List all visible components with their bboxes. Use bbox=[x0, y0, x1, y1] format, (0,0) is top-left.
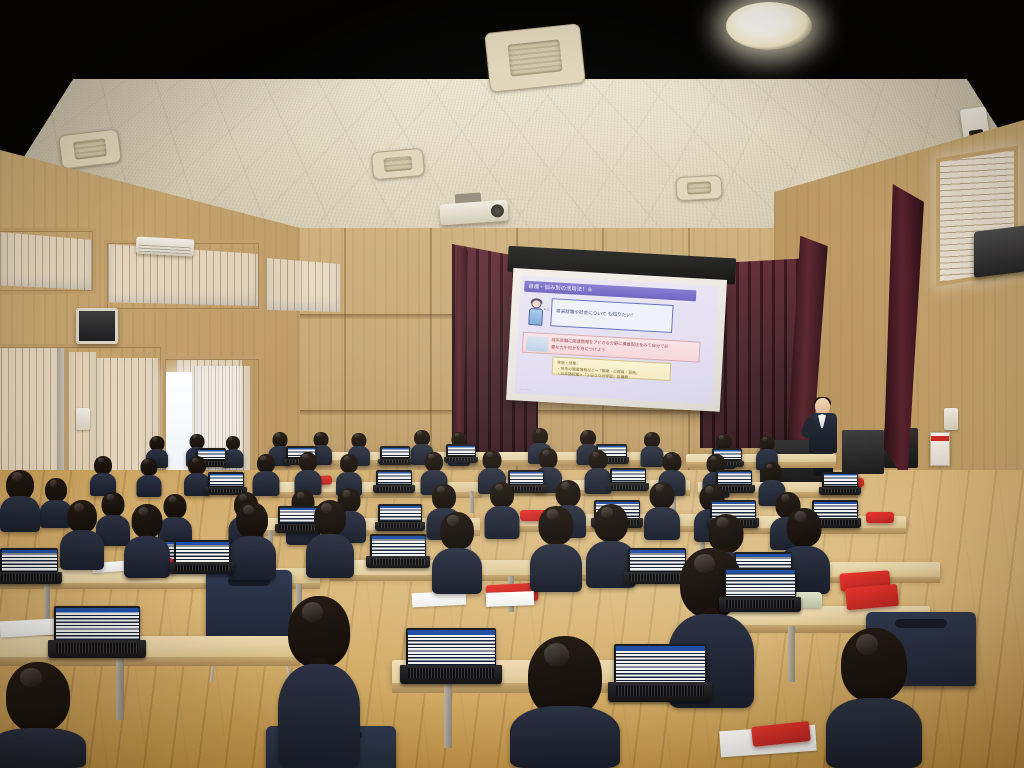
laptop-lid bbox=[370, 534, 426, 557]
laptop-display bbox=[408, 630, 495, 665]
laptop-base bbox=[608, 682, 713, 702]
laptop-display bbox=[2, 550, 57, 571]
slide-footer-text: ····· ····· bbox=[519, 388, 531, 393]
vent-grille bbox=[383, 156, 412, 173]
student-head bbox=[299, 452, 317, 472]
laptop-r2-6 bbox=[822, 472, 858, 495]
laptop-base bbox=[0, 572, 62, 584]
vent-grille bbox=[686, 181, 711, 195]
student-head bbox=[6, 662, 70, 732]
laptop-base bbox=[366, 556, 430, 568]
ac-vent-center-icon bbox=[484, 23, 586, 93]
student-head bbox=[314, 500, 346, 536]
laptop-base bbox=[170, 562, 234, 574]
student-torso bbox=[530, 544, 582, 592]
student-head bbox=[539, 448, 558, 469]
student-foreground-left bbox=[278, 596, 360, 768]
laptop-display bbox=[612, 470, 645, 483]
desk-leg bbox=[116, 658, 124, 720]
laptop-base bbox=[607, 483, 648, 491]
student-r3-8 bbox=[484, 482, 519, 539]
laptop-lid bbox=[610, 468, 646, 484]
student-head bbox=[841, 628, 907, 702]
ac-vent-right-icon bbox=[371, 148, 425, 180]
slide-yellow-text: 実施・授業： ・将来の職業情報など→「職業・公務員・資格」 ・日本語授業→「１日… bbox=[556, 360, 667, 383]
student-r4-6 bbox=[432, 512, 482, 594]
laptop-r4-3 bbox=[370, 534, 426, 568]
ac-vent-left-icon bbox=[58, 128, 122, 169]
red-bag-floor bbox=[845, 584, 899, 610]
desk-leg bbox=[470, 491, 474, 513]
laptop-base bbox=[375, 522, 425, 531]
slide-pink-text: 将来就職に関連情報をアどのな分野に講義配信をみて自分で必要な力や何かを身につけよ… bbox=[551, 337, 671, 357]
slide-speech-bubble: 将来就職や社会について も知りたい！ bbox=[550, 298, 673, 333]
laptop-base bbox=[373, 485, 414, 493]
laptop-lid bbox=[380, 446, 410, 459]
student-foreground-center bbox=[510, 636, 620, 768]
student-head bbox=[762, 462, 781, 482]
slide-avatar-icon bbox=[525, 298, 547, 329]
student-head bbox=[236, 502, 268, 538]
laptop-base bbox=[819, 487, 860, 495]
laptop-display bbox=[176, 542, 229, 562]
fire-equipment-cabinet-icon bbox=[930, 432, 950, 466]
downlight-top-icon bbox=[726, 2, 812, 50]
slide-instruction-box: 将来就職に関連情報をアどのな分野に講義配信をみて自分で必要な力や何かを身につけよ… bbox=[522, 332, 701, 363]
student-head bbox=[432, 484, 456, 510]
student-r2-1 bbox=[90, 456, 116, 496]
student-r4-3 bbox=[124, 504, 170, 578]
wall-speaker-icon bbox=[974, 224, 1024, 278]
laptop-display bbox=[380, 506, 421, 521]
slide-bubble-text: 将来就職や社会について も知りたい！ bbox=[556, 309, 636, 319]
student-head bbox=[650, 482, 675, 509]
student-foreground-farright bbox=[826, 628, 922, 768]
student-r4-4 bbox=[228, 502, 276, 580]
ac-louvers bbox=[139, 245, 190, 255]
laptop-foreground-left bbox=[54, 606, 140, 658]
laptop-display bbox=[448, 446, 475, 456]
student-r4-5 bbox=[306, 500, 354, 578]
student-head bbox=[490, 482, 514, 508]
student-head bbox=[425, 452, 443, 472]
student-left-edge bbox=[0, 662, 86, 768]
student-r2-2 bbox=[136, 458, 161, 497]
student-head bbox=[226, 436, 240, 450]
student-torso bbox=[306, 534, 354, 578]
projector-lens-icon bbox=[491, 204, 505, 218]
right-wall-switch-icon[interactable] bbox=[944, 408, 958, 430]
laptop-r4-1 bbox=[0, 548, 58, 584]
student-head bbox=[588, 450, 607, 470]
student-head bbox=[132, 504, 163, 538]
student-torso bbox=[484, 506, 519, 539]
desk-leg bbox=[44, 584, 50, 622]
student-torso bbox=[826, 698, 922, 768]
student-head bbox=[45, 478, 67, 502]
laptop-lid bbox=[54, 606, 140, 641]
slide-illustration-icon bbox=[526, 336, 549, 352]
laptop-lid bbox=[614, 644, 706, 683]
laptop-display bbox=[726, 570, 795, 597]
window-frame-left-lower-2 bbox=[162, 356, 262, 488]
laptop-r2-4 bbox=[610, 468, 646, 491]
laptop-lid bbox=[0, 548, 58, 572]
student-torso bbox=[124, 536, 170, 578]
projection-screen-assembly: 目標・悩み別の活用法！④ ∘○ 将来就職や社会について も知りたい！ 将来就職に… bbox=[500, 246, 737, 418]
laptop-lid bbox=[174, 540, 230, 563]
student-r2-5 bbox=[294, 452, 321, 495]
worksheet-r5-a bbox=[0, 619, 56, 638]
laptop-base bbox=[48, 640, 146, 658]
laptop-base bbox=[719, 597, 801, 612]
wall-light-switch-icon[interactable] bbox=[76, 408, 90, 430]
student-r4-2 bbox=[60, 500, 104, 570]
laptop-display bbox=[382, 448, 409, 458]
laptop-base bbox=[444, 457, 478, 463]
avatar-body bbox=[528, 308, 543, 326]
av-equipment-cart bbox=[842, 430, 884, 474]
laptop-lid bbox=[378, 504, 422, 522]
slide-title-bar: 目標・悩み別の活用法！④ bbox=[524, 281, 697, 302]
laptop-display bbox=[824, 474, 857, 487]
clerestory-curtain-3 bbox=[266, 258, 340, 312]
chair-handle-slot bbox=[895, 619, 948, 628]
laptop-lid bbox=[822, 472, 858, 488]
wall-monitor-icon bbox=[76, 308, 118, 344]
student-head bbox=[67, 500, 97, 533]
laptop-display bbox=[210, 474, 243, 487]
student-head bbox=[483, 450, 502, 470]
laptop-r2-2 bbox=[376, 470, 412, 493]
desk-leg bbox=[788, 626, 795, 682]
laptop-lid bbox=[376, 470, 412, 486]
presentation-slide: 目標・悩み別の活用法！④ ∘○ 将来就職や社会について も知りたい！ 将来就職に… bbox=[514, 275, 718, 404]
laptop-foreground-right bbox=[724, 568, 796, 612]
slide-speech-dots-icon: ∘○ bbox=[543, 307, 549, 313]
laptop-lid bbox=[446, 444, 476, 457]
desk-leg bbox=[444, 684, 452, 748]
student-head bbox=[140, 458, 157, 476]
student-r4-1 bbox=[0, 470, 40, 532]
laptop-base bbox=[378, 459, 412, 465]
laptop-display bbox=[616, 646, 705, 682]
laptop-r1-3 bbox=[380, 446, 410, 465]
projection-screen: 目標・悩み別の活用法！④ ∘○ 将来就職や社会について も知りたい！ 将来就職に… bbox=[506, 268, 727, 412]
vent-grille bbox=[73, 138, 107, 160]
laptop-foreground-center-left bbox=[406, 628, 496, 684]
student-head bbox=[440, 512, 474, 550]
student-torso bbox=[228, 536, 276, 580]
vent-grille bbox=[507, 39, 563, 77]
student-torso bbox=[510, 706, 620, 768]
student-torso bbox=[432, 548, 482, 594]
student-head bbox=[594, 504, 628, 542]
wall-air-conditioner-icon bbox=[136, 236, 195, 256]
student-head bbox=[556, 480, 581, 507]
student-torso bbox=[60, 530, 104, 570]
student-head bbox=[787, 508, 822, 547]
student-r4-7 bbox=[530, 506, 582, 592]
student-head bbox=[340, 454, 358, 473]
laptop-base bbox=[400, 665, 503, 684]
laptop-display bbox=[718, 472, 751, 485]
red-bag-r3-c bbox=[866, 512, 894, 523]
laptop-display bbox=[378, 472, 411, 485]
laptop-display bbox=[372, 536, 425, 556]
photo-scene: 目標・悩み別の活用法！④ ∘○ 将来就職や社会について も知りたい！ 将来就職に… bbox=[0, 0, 1024, 768]
desk-row5-a bbox=[0, 636, 300, 658]
student-torso bbox=[644, 507, 680, 540]
laptop-foreground-center-right bbox=[614, 644, 706, 702]
laptop-r3-3 bbox=[378, 504, 422, 531]
laptop-r1-4 bbox=[446, 444, 476, 463]
fire-cabinet-band bbox=[931, 436, 949, 441]
student-head bbox=[662, 452, 681, 472]
ac-vent-far-icon bbox=[675, 175, 722, 201]
student-head bbox=[102, 492, 125, 517]
laptop-r4-2 bbox=[174, 540, 230, 574]
student-torso bbox=[0, 728, 86, 768]
clerestory-frame-1 bbox=[0, 228, 96, 294]
slide-title-text: 目標・悩み別の活用法！④ bbox=[528, 283, 592, 294]
student-torso bbox=[278, 664, 360, 768]
student-r2-4 bbox=[252, 454, 279, 496]
student-torso bbox=[0, 496, 40, 532]
laptop-lid bbox=[406, 628, 496, 666]
laptop-lid bbox=[724, 568, 796, 598]
laptop-lid bbox=[208, 472, 244, 488]
laptop-display bbox=[56, 608, 139, 640]
student-r3-10 bbox=[644, 482, 680, 540]
worksheet-r5-b bbox=[486, 591, 534, 607]
